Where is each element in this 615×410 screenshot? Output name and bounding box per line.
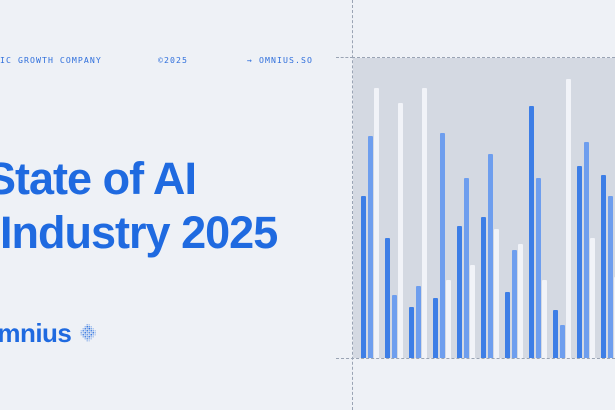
bar-dark <box>481 217 486 358</box>
bar-group <box>505 58 523 358</box>
brand-logo: omnius <box>0 320 98 346</box>
bar-group <box>385 58 403 358</box>
meta-website-link[interactable]: → OMNIUS.SO <box>247 55 313 65</box>
bar-light <box>440 133 445 358</box>
bar-group <box>433 58 451 358</box>
bar-pale <box>398 103 403 358</box>
bar-light <box>368 136 373 358</box>
bar-chart-panel <box>353 58 615 358</box>
page-title: State of AI Industry 2025 <box>0 152 386 260</box>
bar-dark <box>457 226 462 358</box>
page-title-line-2: Industry 2025 <box>0 206 386 260</box>
page-title-line-1: State of AI <box>0 152 386 206</box>
bar-pale <box>494 229 499 358</box>
bar-pale <box>566 79 571 358</box>
bar-group <box>577 58 595 358</box>
bar-dark <box>385 238 390 358</box>
bar-pale <box>446 280 451 358</box>
bar-light <box>464 178 469 358</box>
bar-light <box>512 250 517 358</box>
bar-pale <box>422 88 427 358</box>
bar-dark <box>505 292 510 358</box>
bar-chart-bars <box>361 58 615 358</box>
bar-group <box>361 58 379 358</box>
bar-light <box>608 196 613 358</box>
bar-dark <box>553 310 558 358</box>
bar-pale <box>374 88 379 358</box>
bar-pale <box>470 265 475 358</box>
bar-light <box>488 154 493 358</box>
bar-group <box>481 58 499 358</box>
bar-pale <box>542 280 547 358</box>
bar-light <box>416 286 421 358</box>
bar-group <box>457 58 475 358</box>
bar-group <box>529 58 547 358</box>
bar-pale <box>590 238 595 358</box>
bar-dark <box>529 106 534 358</box>
bar-light <box>560 325 565 358</box>
bar-group <box>409 58 427 358</box>
bar-light <box>584 142 589 358</box>
bar-group <box>553 58 571 358</box>
meta-row: ORGANIC GROWTH COMPANY ©2025 → OMNIUS.SO <box>0 55 340 71</box>
meta-copyright-label: ©2025 <box>158 55 188 65</box>
bar-dark <box>361 196 366 358</box>
bar-light <box>392 295 397 358</box>
bar-dark <box>601 175 606 358</box>
bar-group <box>601 58 615 358</box>
bar-light <box>536 178 541 358</box>
bar-dark <box>409 307 414 358</box>
meta-company-label: ORGANIC GROWTH COMPANY <box>0 55 102 65</box>
brand-logo-wordmark: omnius <box>0 320 71 346</box>
guide-line-horizontal-bottom <box>336 358 615 359</box>
bar-pale <box>518 244 523 358</box>
poster-canvas: ORGANIC GROWTH COMPANY ©2025 → OMNIUS.SO… <box>0 0 615 410</box>
dotted-sphere-icon <box>78 323 98 343</box>
bar-dark <box>577 166 582 358</box>
bar-dark <box>433 298 438 358</box>
